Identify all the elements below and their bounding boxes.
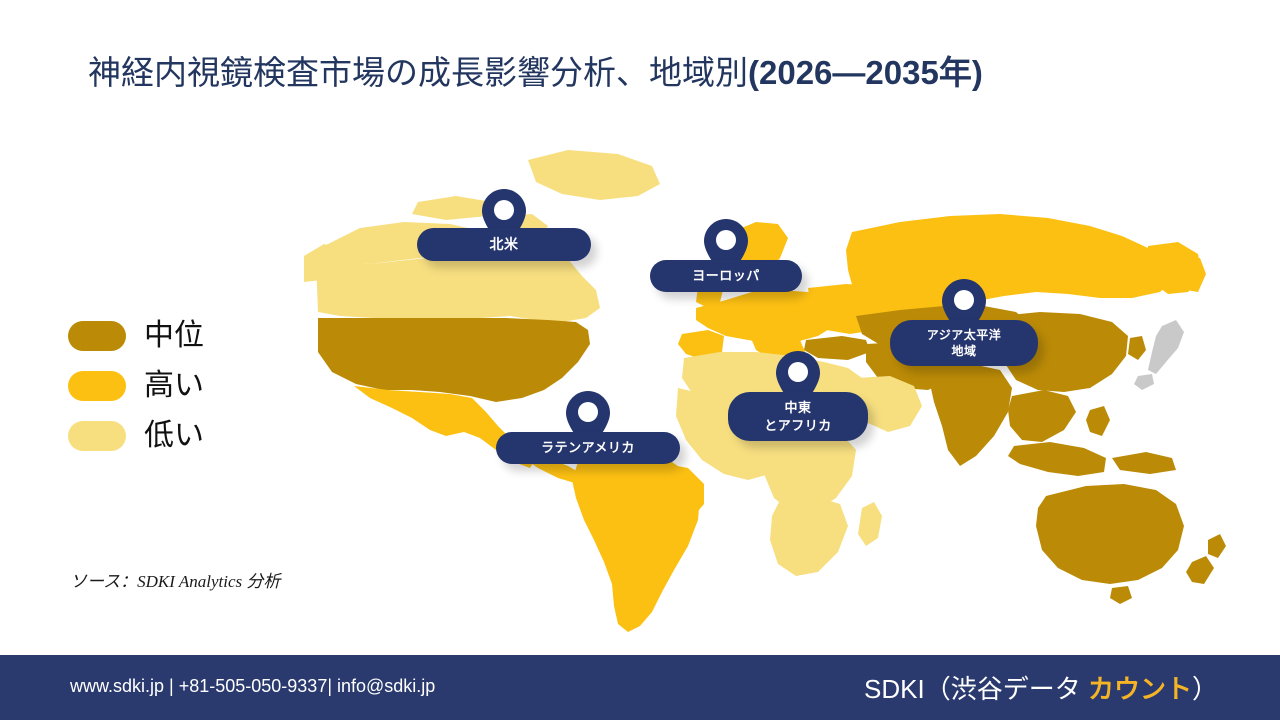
slide-canvas: 神経内視鏡検査市場の成長影響分析、地域別(2026—2035年) 中位 高い 低… (0, 0, 1280, 720)
legend-swatch-medium (68, 321, 126, 351)
country-southern-africa (770, 496, 848, 576)
legend: 中位 高い 低い (68, 312, 298, 462)
country-southeast-asia (1008, 390, 1076, 442)
map-pin-label-asia-pacific[interactable]: アジア太平洋 地域 (890, 320, 1038, 366)
legend-item-medium: 中位 (68, 312, 298, 360)
country-russia (846, 214, 1174, 314)
world-map: 北米 ヨーロッパ アジア太平洋 地域 (300, 140, 1230, 640)
map-landmasses (304, 150, 1226, 632)
legend-label-medium: 中位 (144, 321, 204, 351)
page-title: 神経内視鏡検査市場の成長影響分析、地域別(2026—2035年) (88, 52, 1198, 93)
page-title-normal: 神経内視鏡検査市場の成長影響分析、地域別 (88, 54, 748, 91)
legend-swatch-high (68, 371, 126, 401)
country-philippines (1086, 406, 1110, 436)
footer-brand-main: SDKI（渋谷データ (864, 674, 1088, 704)
country-japan-south (1134, 374, 1154, 390)
footer-brand-tail: ） (1192, 674, 1218, 704)
country-indonesia (1008, 442, 1106, 476)
map-pin-label-middle-east-africa[interactable]: 中東 とアフリカ (728, 392, 868, 441)
source-note: ソース：SDKI Analytics 分析 (70, 567, 280, 592)
footer-bar: www.sdki.jp | +81-505-050-9337| info@sdk… (0, 655, 1280, 720)
legend-item-high: 高い (68, 362, 298, 410)
legend-swatch-low (68, 421, 126, 451)
country-korea-peninsula (1128, 336, 1146, 360)
legend-label-low: 低い (144, 421, 204, 451)
country-arctic-islands (412, 196, 492, 220)
footer-contact-info[interactable]: www.sdki.jp | +81-505-050-9337| info@sdk… (70, 676, 435, 697)
legend-label-high: 高い (144, 371, 204, 401)
map-pin-label-europe[interactable]: ヨーロッパ (650, 260, 802, 292)
map-pin-label-latin-america[interactable]: ラテンアメリカ (496, 432, 680, 464)
footer-brand: SDKI（渋谷データ カウント） (864, 669, 1218, 706)
world-map-svg (300, 140, 1230, 640)
country-tasmania (1110, 586, 1132, 604)
country-australia (1036, 484, 1184, 584)
country-greenland (528, 150, 660, 200)
legend-item-low: 低い (68, 412, 298, 460)
country-india (930, 364, 1012, 466)
footer-brand-accent: カウント (1088, 674, 1192, 704)
country-japan (1148, 320, 1184, 374)
page-title-years: (2026—2035 (748, 54, 939, 91)
country-new-guinea (1112, 452, 1176, 474)
country-new-zealand-north (1208, 534, 1226, 558)
map-pin-label-north-america[interactable]: 北米 (417, 228, 591, 261)
country-madagascar (858, 502, 882, 546)
page-title-suffix: 年) (939, 54, 983, 91)
country-new-zealand-south (1186, 556, 1214, 584)
